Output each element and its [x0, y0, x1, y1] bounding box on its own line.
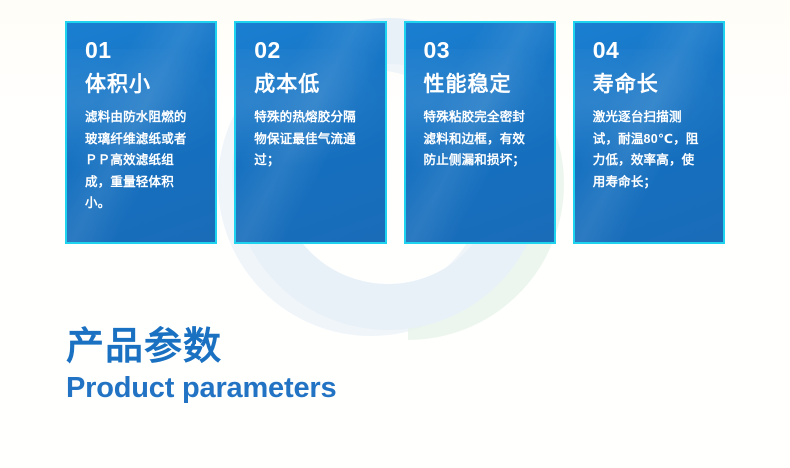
feature-card-content: 04 寿命长 激光逐台扫描测试，耐温80℃，阻力低，效率高，使用寿命长；: [575, 23, 723, 193]
card-title: 体积小: [85, 74, 201, 96]
card-number: 01: [85, 39, 201, 62]
page-subtitle: Product parameters: [66, 371, 336, 405]
feature-card-01[interactable]: 01 体积小 滤料由防水阻燃的玻璃纤维滤纸或者ＰＰ高效滤纸组成，重量轻体积小。: [65, 21, 217, 244]
card-number: 03: [424, 39, 540, 62]
feature-card-content: 01 体积小 滤料由防水阻燃的玻璃纤维滤纸或者ＰＰ高效滤纸组成，重量轻体积小。: [67, 23, 215, 215]
card-body-text: 激光逐台扫描测试，耐温80℃，阻力低，效率高，使用寿命长；: [593, 107, 705, 193]
feature-card-content: 03 性能稳定 特殊粘胶完全密封滤料和边框，有效防止侧漏和损坏；: [406, 23, 554, 172]
feature-card-02[interactable]: 02 成本低 特殊的热熔胶分隔物保证最佳气流通过；: [234, 21, 386, 244]
slide-canvas: 01 体积小 滤料由防水阻燃的玻璃纤维滤纸或者ＰＰ高效滤纸组成，重量轻体积小。 …: [0, 0, 790, 468]
feature-card-04[interactable]: 04 寿命长 激光逐台扫描测试，耐温80℃，阻力低，效率高，使用寿命长；: [573, 21, 725, 244]
card-number: 04: [593, 39, 709, 62]
card-number: 02: [254, 39, 370, 62]
feature-card-content: 02 成本低 特殊的热熔胶分隔物保证最佳气流通过；: [236, 23, 384, 172]
card-body-text: 滤料由防水阻燃的玻璃纤维滤纸或者ＰＰ高效滤纸组成，重量轻体积小。: [85, 107, 197, 215]
card-title: 寿命长: [593, 74, 709, 96]
card-body-text: 特殊粘胶完全密封滤料和边框，有效防止侧漏和损坏；: [424, 107, 536, 172]
card-body-text: 特殊的热熔胶分隔物保证最佳气流通过；: [254, 107, 366, 172]
section-heading: 产品参数 Product parameters: [66, 327, 336, 405]
page-title: 产品参数: [66, 327, 336, 368]
card-title: 性能稳定: [424, 74, 540, 96]
feature-card-list: 01 体积小 滤料由防水阻燃的玻璃纤维滤纸或者ＰＰ高效滤纸组成，重量轻体积小。 …: [65, 21, 725, 244]
feature-card-03[interactable]: 03 性能稳定 特殊粘胶完全密封滤料和边框，有效防止侧漏和损坏；: [404, 21, 556, 244]
card-title: 成本低: [254, 74, 370, 96]
